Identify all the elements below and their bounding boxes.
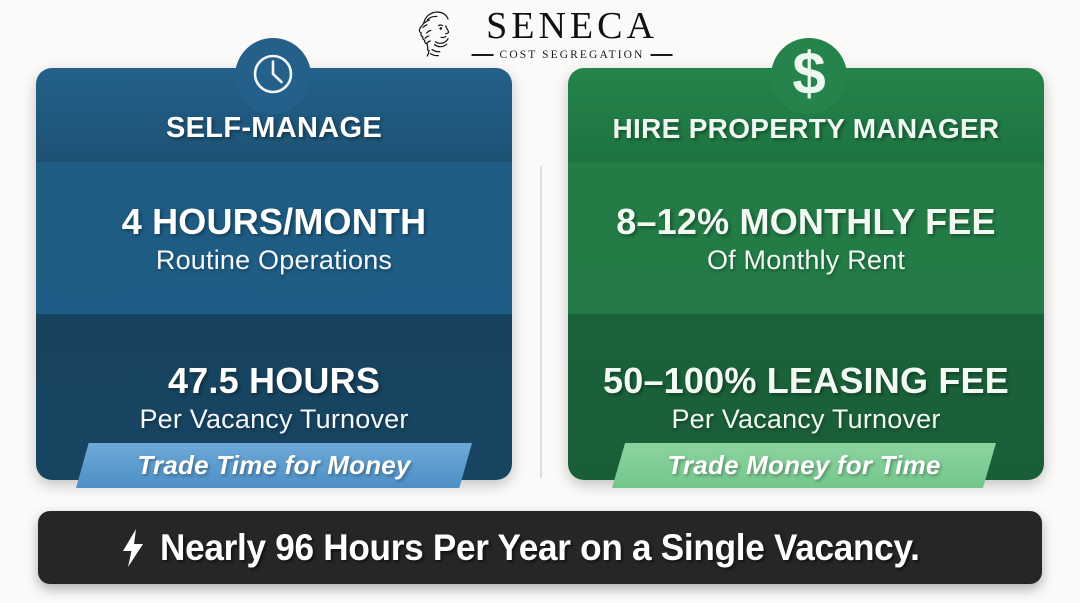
stat-label: Of Monthly Rent [707,245,905,276]
brand-name: SENECA [486,7,658,45]
badge-hire-manager: $ [771,38,847,114]
stat-label: Per Vacancy Turnover [671,404,940,435]
brand-logo: SENECA COST SEGREGATION [408,6,673,62]
banner-trade-money-for-time: Trade Money for Time [612,443,996,488]
stat-block-1: 8–12% MONTHLY FEE Of Monthly Rent [568,162,1044,314]
card-title: HIRE PROPERTY MANAGER [613,113,1000,145]
column-divider [540,166,542,478]
stat-value: 8–12% MONTHLY FEE [616,201,996,243]
stat-value: 50–100% LEASING FEE [603,360,1009,402]
footer-summary-text: Nearly 96 Hours Per Year on a Single Vac… [160,527,920,569]
logo-rule-right [650,54,672,56]
banner-label: Trade Money for Time [667,450,940,481]
banner-trade-time-for-money: Trade Time for Money [76,443,472,488]
badge-self-manage [235,38,311,114]
card-title: SELF-MANAGE [166,112,382,145]
lightning-bolt-icon [120,528,146,568]
stat-value: 4 HOURS/MONTH [122,201,427,243]
card-hire-property-manager: HIRE PROPERTY MANAGER 8–12% MONTHLY FEE … [568,68,1044,480]
stat-value: 47.5 HOURS [168,360,380,402]
logo-rule-left [472,54,494,56]
dollar-sign-icon: $ [792,44,825,104]
stat-label: Routine Operations [156,245,392,276]
seneca-bust-icon [408,6,464,62]
banner-label: Trade Time for Money [137,450,410,481]
clock-icon [248,49,298,104]
card-self-manage: SELF-MANAGE 4 HOURS/MONTH Routine Operat… [36,68,512,480]
stat-label: Per Vacancy Turnover [139,404,408,435]
stat-block-1: 4 HOURS/MONTH Routine Operations [36,162,512,314]
footer-summary-bar: Nearly 96 Hours Per Year on a Single Vac… [38,511,1042,584]
brand-tagline: COST SEGREGATION [500,49,645,61]
